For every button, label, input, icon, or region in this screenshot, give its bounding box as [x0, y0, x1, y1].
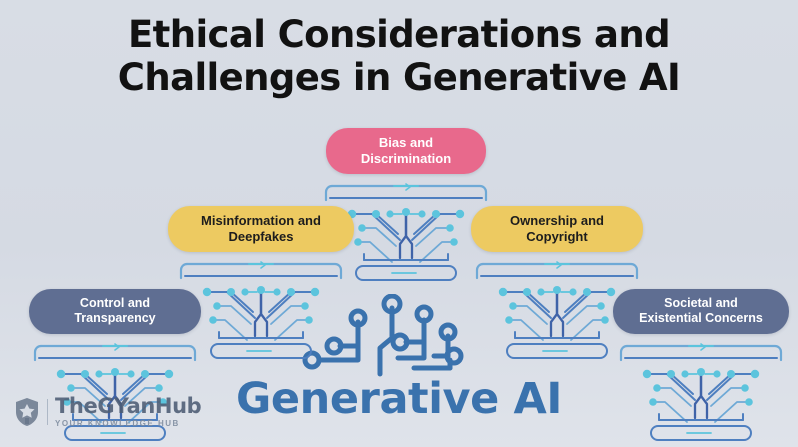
- page-title: Ethical Considerations and Challenges in…: [0, 14, 798, 100]
- watermark-logo: TheGYanHub YOUR KNOWLEDGE HUB: [14, 396, 201, 428]
- badge-ownership-line-2: Copyright: [485, 229, 629, 245]
- badge-societal-line-1: Societal and: [627, 296, 775, 311]
- badge-misinformation-line-1: Misinformation and: [182, 213, 340, 229]
- badge-misinformation-and-deepfakes[interactable]: Misinformation and Deepfakes: [168, 206, 354, 252]
- badge-ownership-line-1: Ownership and: [485, 213, 629, 229]
- watermark-tagline: YOUR KNOWLEDGE HUB: [55, 420, 201, 428]
- shield-star-icon: [14, 397, 40, 427]
- badge-bias-line-2: Discrimination: [340, 151, 472, 167]
- badge-societal-and-existential-concerns[interactable]: Societal and Existential Concerns: [613, 289, 789, 334]
- watermark-divider: [47, 399, 48, 425]
- badge-control-line-1: Control and: [43, 296, 187, 311]
- page-title-line-1: Ethical Considerations and: [0, 14, 798, 57]
- badge-bias-and-discrimination[interactable]: Bias and Discrimination: [326, 128, 486, 174]
- badge-misinformation-line-2: Deepfakes: [182, 229, 340, 245]
- watermark-text: TheGYanHub YOUR KNOWLEDGE HUB: [55, 396, 201, 428]
- badge-bias-line-1: Bias and: [340, 135, 472, 151]
- infographic-canvas: Ethical Considerations and Challenges in…: [0, 0, 798, 447]
- watermark-name: TheGYanHub: [55, 396, 201, 417]
- badge-ownership-and-copyright[interactable]: Ownership and Copyright: [471, 206, 643, 252]
- page-title-line-2: Challenges in Generative AI: [0, 57, 798, 100]
- badge-societal-line-2: Existential Concerns: [627, 311, 775, 326]
- badge-control-and-transparency[interactable]: Control and Transparency: [29, 289, 201, 334]
- badge-control-line-2: Transparency: [43, 311, 187, 326]
